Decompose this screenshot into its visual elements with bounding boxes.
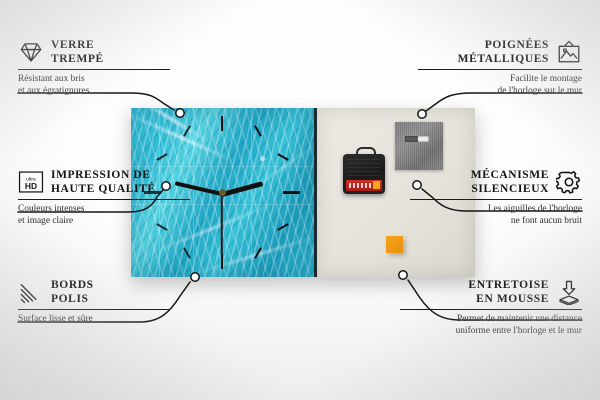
infographic-canvas: VERRE TREMPÉ Résistant aux bris et aux é… [0,0,600,400]
foam-spacer-icon [556,279,582,305]
diamond-icon [18,39,44,65]
feature-description: Résistant aux bris et aux égratignures [18,73,188,98]
feature-divider [418,69,582,70]
ultra-hd-icon: ultra HD [18,169,44,195]
feature-divider [18,309,170,310]
picture-hanger-icon [556,39,582,65]
feature-title-line2: TREMPÉ [51,52,104,66]
feature-title-line1: ENTRETOISE [382,278,549,292]
feature-description: Les aiguilles de l'horloge ne font aucun… [392,203,582,228]
feature-description: Couleurs intenses et image claire [18,203,208,228]
feature-entretoise-en-mousse: ENTRETOISE EN MOUSSE Permet de maintenir… [382,278,582,338]
gear-icon [556,169,582,195]
connector-dot-bords-polis [191,273,199,281]
feature-title-line2: EN MOUSSE [382,292,549,306]
feature-poignees-metalliques: POIGNÉES MÉTALLIQUES Facilite le montage… [400,38,582,98]
feature-title-line1: BORDS [51,278,94,292]
feature-mecanisme-silencieux: MÉCANISME SILENCIEUX Les aiguilles de l'… [392,168,582,228]
connector-dot-poignees [418,110,426,118]
feature-description: Surface lisse et sûre [18,313,188,325]
feature-title-line2: POLIS [51,292,94,306]
feature-divider [410,199,582,200]
feature-title-line2: HAUTE QUALITÉ [51,182,156,196]
svg-text:HD: HD [25,181,37,191]
feature-title-line1: MÉCANISME [392,168,549,182]
polished-edges-icon [18,279,44,305]
feature-description: Permet de maintenir une distance uniform… [382,313,582,338]
connector-dot-verre-trempe [176,109,184,117]
feature-divider [400,309,582,310]
feature-impression-haute-qualite: ultra HD IMPRESSION DE HAUTE QUALITÉ Cou… [18,168,208,228]
feature-bords-polis: BORDS POLIS Surface lisse et sûre [18,278,188,325]
feature-title-line2: MÉTALLIQUES [400,52,549,66]
feature-title-line2: SILENCIEUX [392,182,549,196]
feature-verre-trempe: VERRE TREMPÉ Résistant aux bris et aux é… [18,38,188,98]
feature-title-line1: IMPRESSION DE [51,168,156,182]
feature-title-line1: POIGNÉES [400,38,549,52]
feature-divider [18,199,190,200]
feature-divider [18,69,170,70]
feature-title-line1: VERRE [51,38,104,52]
feature-description: Facilite le montage de l'horloge sur le … [400,73,582,98]
